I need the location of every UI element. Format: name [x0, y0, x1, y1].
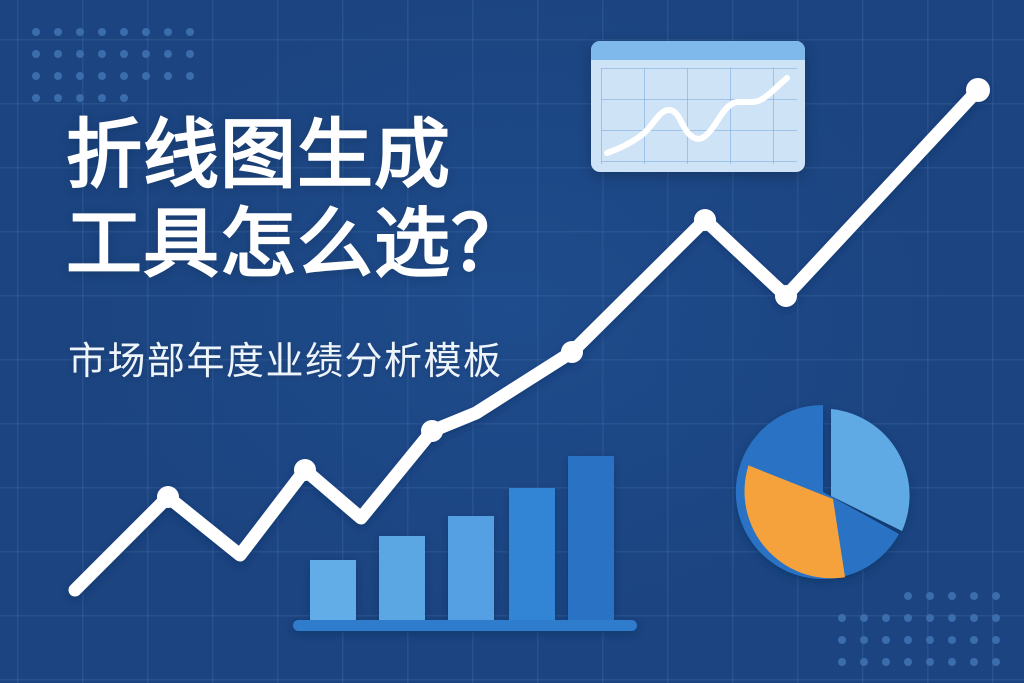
- headline-block: 折线图生成 工具怎么选？: [66, 112, 586, 290]
- line-marker: [561, 341, 583, 363]
- line-marker-end: [966, 78, 990, 102]
- poster-canvas: 折线图生成 工具怎么选？ 市场部年度业绩分析模板: [0, 0, 1024, 683]
- line-marker: [421, 420, 443, 442]
- line-marker: [775, 285, 797, 307]
- title-line-1: 折线图生成: [66, 112, 586, 201]
- line-marker: [157, 486, 179, 508]
- line-marker: [294, 459, 316, 481]
- subtitle: 市场部年度业绩分析模板: [68, 330, 503, 385]
- title-line-2: 工具怎么选？: [66, 201, 586, 290]
- line-marker: [694, 209, 716, 231]
